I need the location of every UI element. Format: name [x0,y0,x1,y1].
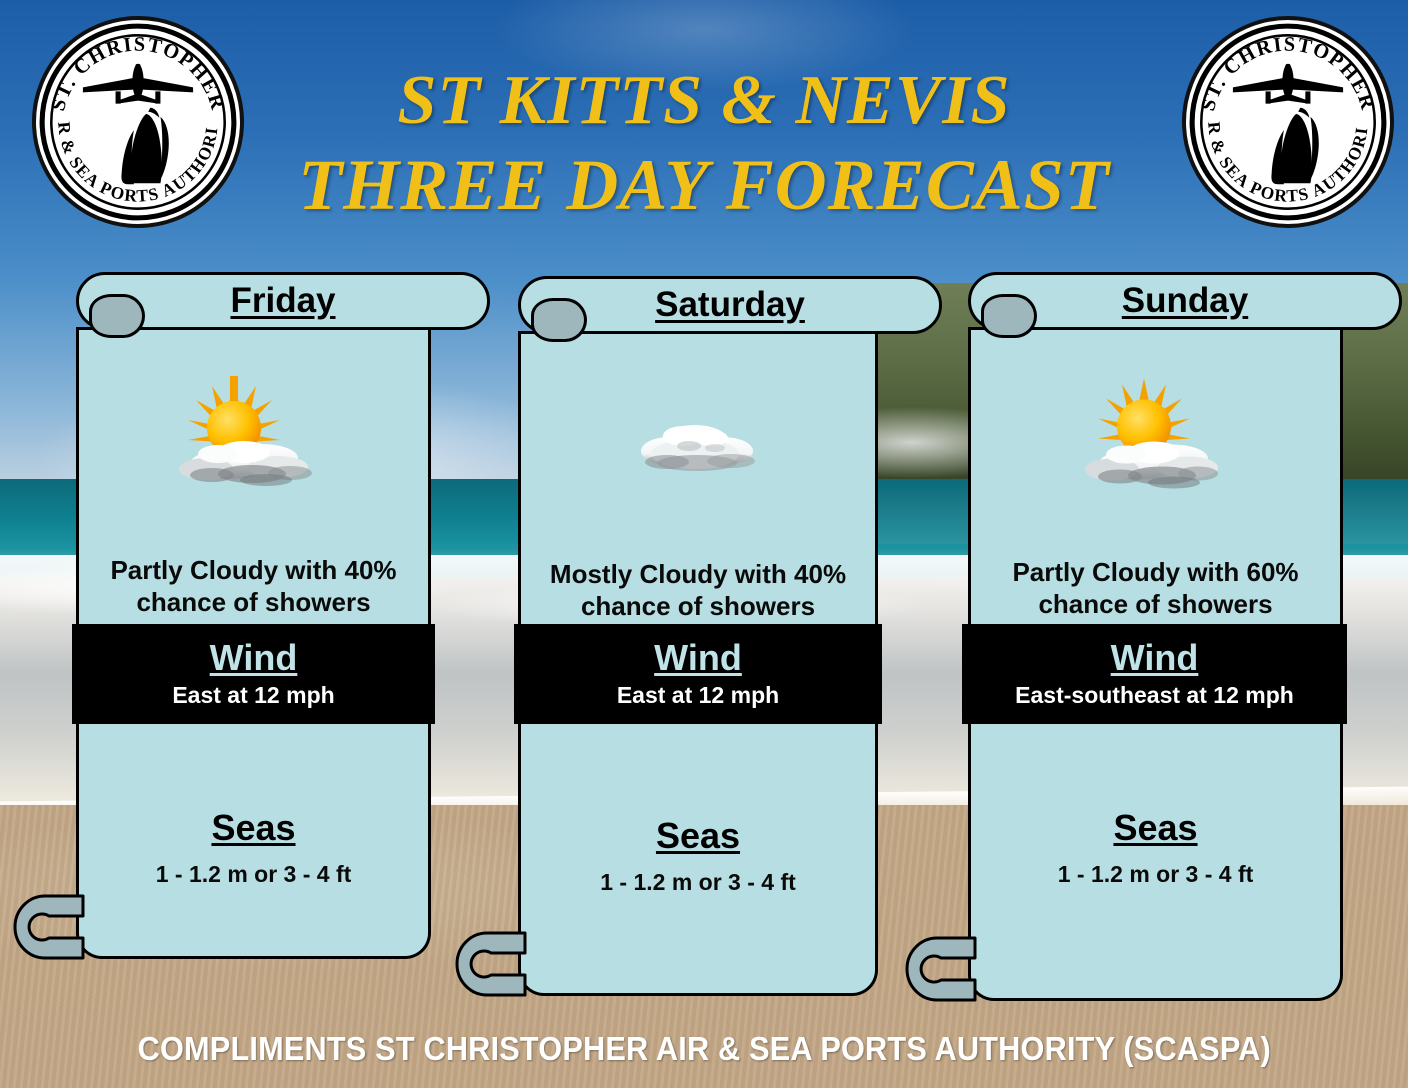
seas-label-saturday: Seas [521,815,875,857]
wind-value-saturday: East at 12 mph [617,682,779,709]
wind-label-sunday: Wind [1111,639,1199,677]
weather-icon-sunday [971,369,1340,514]
footer: COMPLIMENTS ST CHRISTOPHER AIR & SEA POR… [0,1018,1408,1080]
seas-label-sunday: Seas [971,807,1340,849]
scroll-curl-top-left-icon [531,298,587,342]
scroll-curl-top-left-icon [981,294,1037,338]
seas-section-sunday: Seas 1 - 1.2 m or 3 - 4 ft [971,807,1340,888]
condition-text-sunday: Partly Cloudy with 60% chance of showers [985,557,1326,620]
wind-section-sunday: Wind East-southeast at 12 mph [962,624,1347,724]
seas-value-sunday: 1 - 1.2 m or 3 - 4 ft [971,861,1340,888]
weather-icon-friday [79,371,428,511]
scroll-curl-bottom-left-icon [451,929,529,999]
scroll-curl-top-left-icon [89,294,145,338]
wind-value-sunday: East-southeast at 12 mph [1015,682,1294,709]
forecast-cards: Friday [0,0,1408,1010]
footer-credit-text: COMPLIMENTS ST CHRISTOPHER AIR & SEA POR… [137,1030,1270,1068]
wind-label-friday: Wind [210,639,298,677]
wind-value-friday: East at 12 mph [172,682,334,709]
wind-section-saturday: Wind East at 12 mph [514,624,882,724]
seas-value-friday: 1 - 1.2 m or 3 - 4 ft [79,861,428,888]
seas-value-saturday: 1 - 1.2 m or 3 - 4 ft [521,869,875,896]
scroll-curl-bottom-left-icon [9,892,87,962]
scroll-curl-bottom-left-icon [901,934,979,1004]
wind-section-friday: Wind East at 12 mph [72,624,435,724]
weather-icon-saturday [521,391,875,501]
seas-section-friday: Seas 1 - 1.2 m or 3 - 4 ft [79,807,428,888]
condition-text-friday: Partly Cloudy with 40% chance of showers [93,555,414,618]
seas-label-friday: Seas [79,807,428,849]
wind-label-saturday: Wind [654,639,742,677]
condition-text-saturday: Mostly Cloudy with 40% chance of showers [535,559,861,622]
seas-section-saturday: Seas 1 - 1.2 m or 3 - 4 ft [521,815,875,896]
